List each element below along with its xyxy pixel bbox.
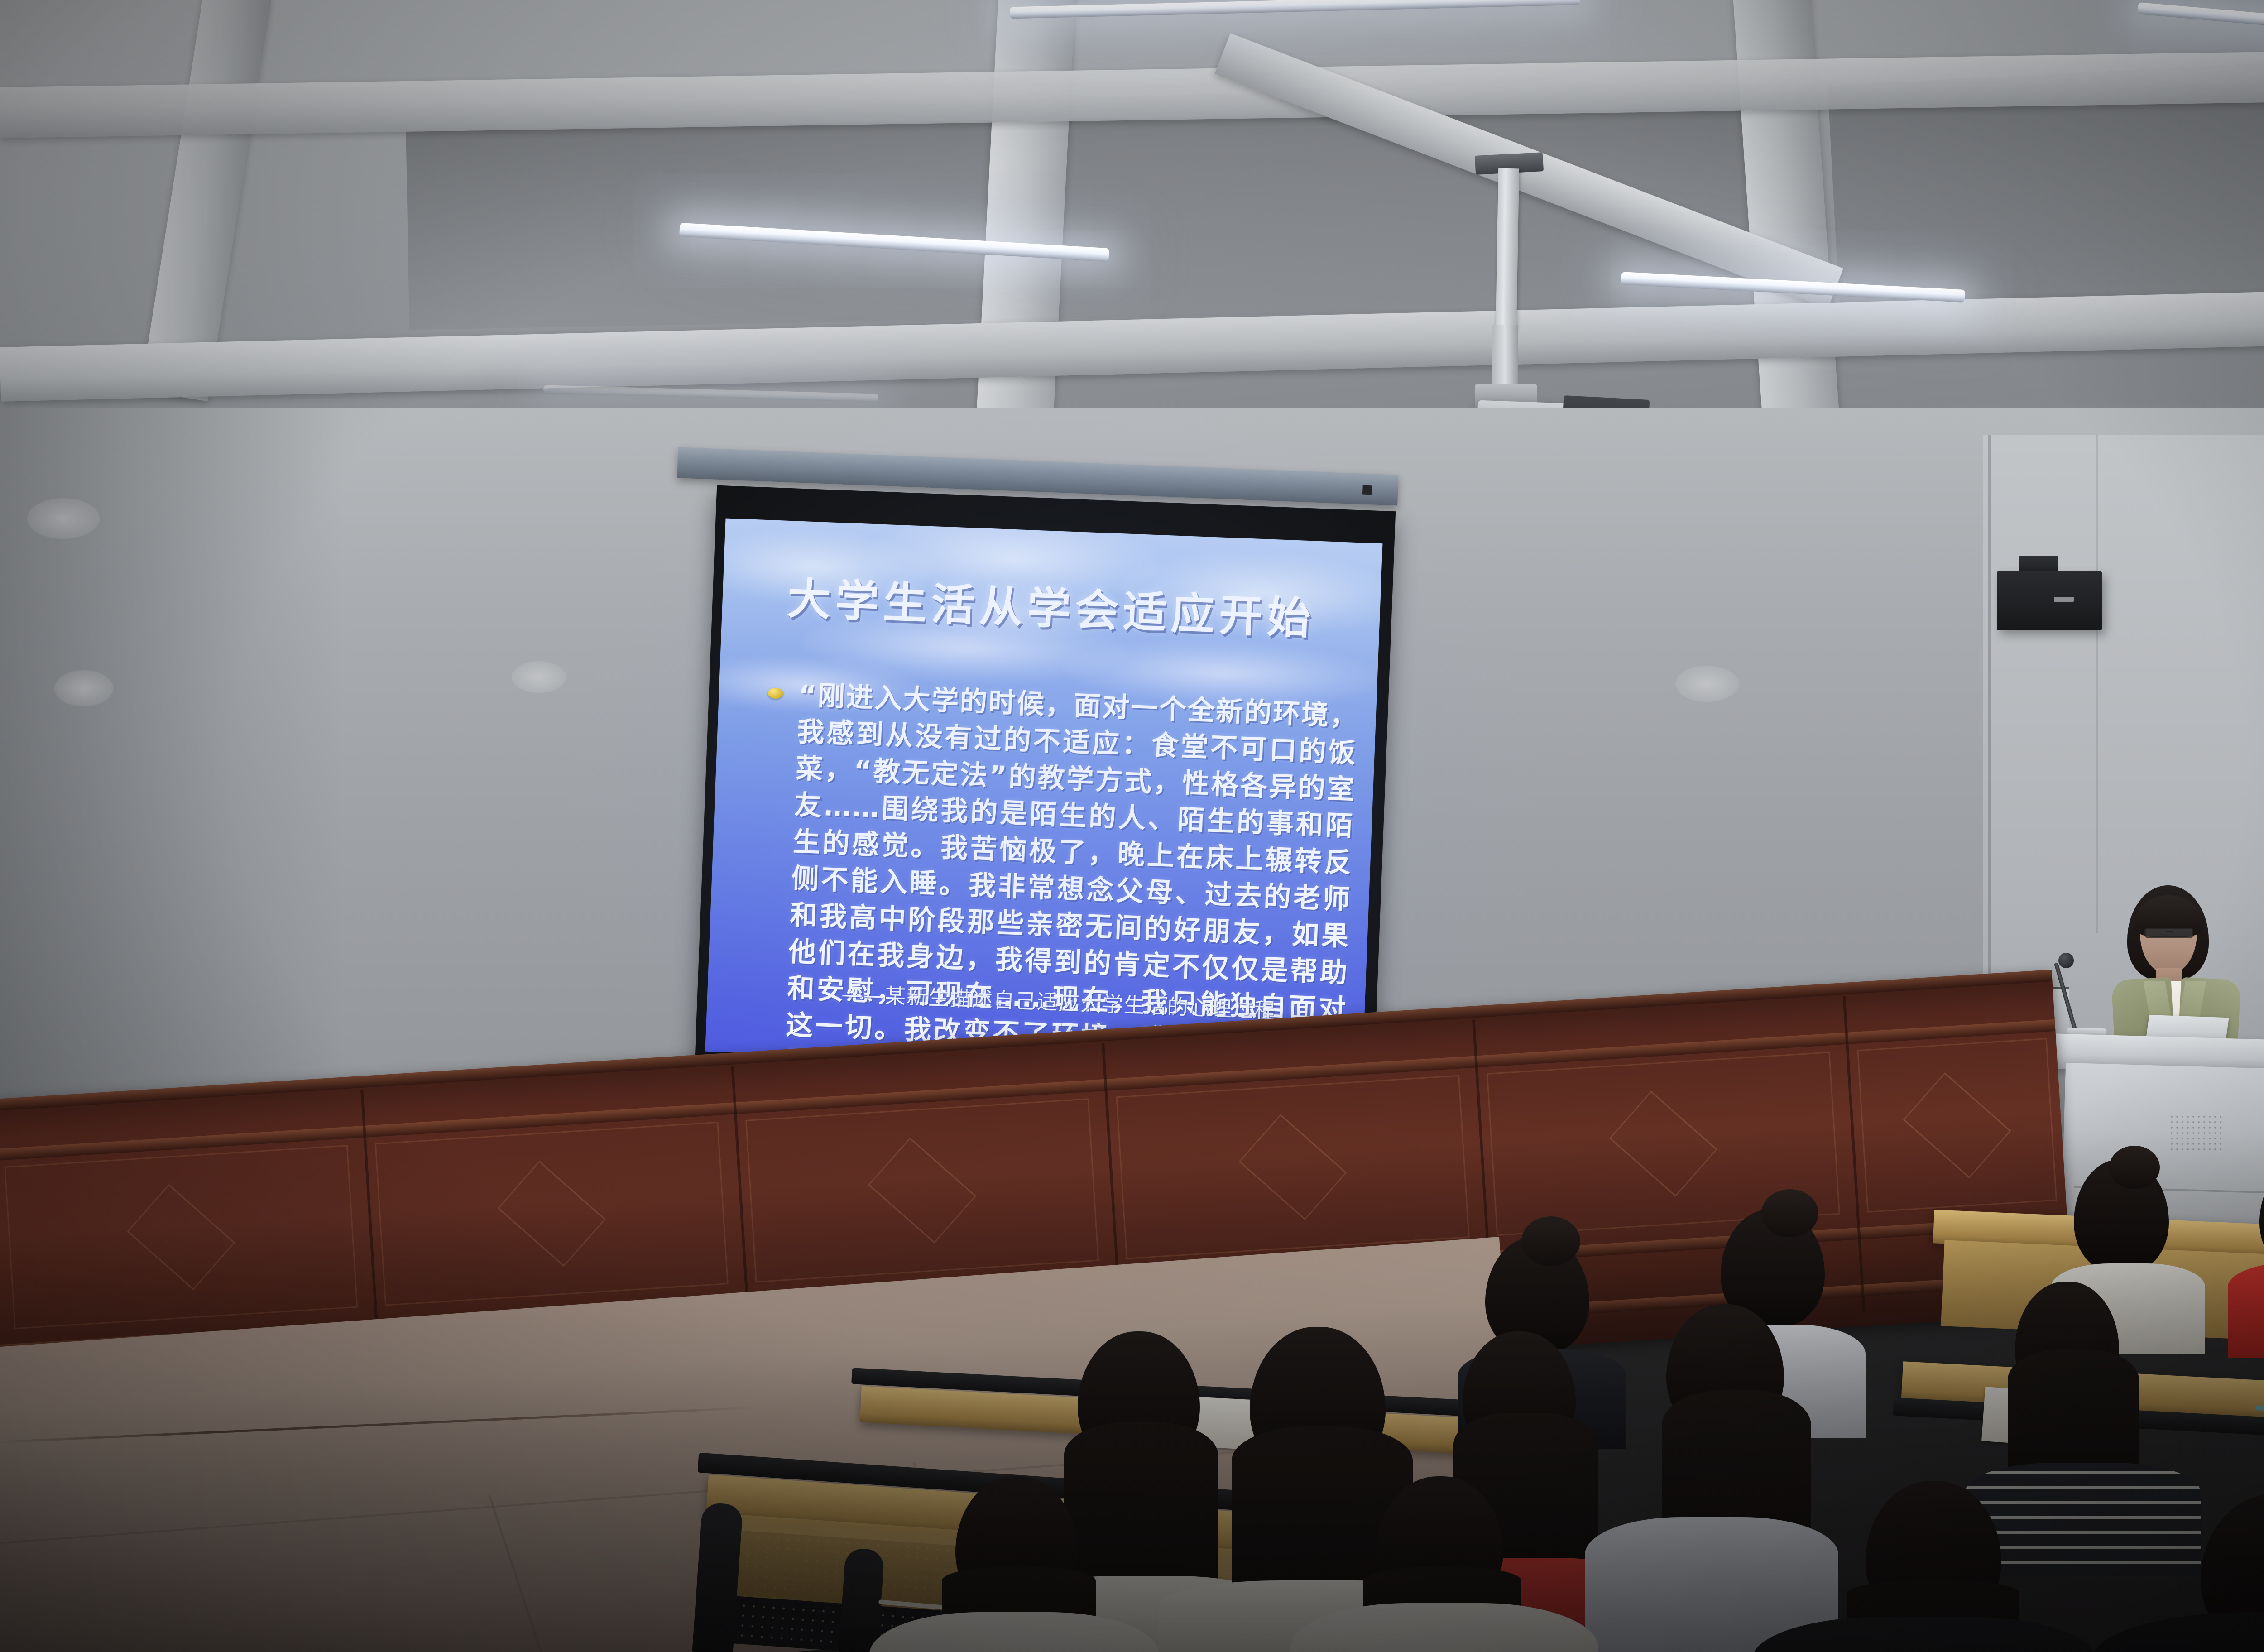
slide-canvas: 大学生活从学会适应开始 “刚进入大学的时候，面对一个全新的环境，我感到从没有过的… (705, 518, 1382, 1076)
podium-grille-left (2169, 1114, 2222, 1152)
wainscot-diamond-motif (1903, 1072, 2011, 1178)
wall-mark-4 (1675, 666, 1739, 702)
student-hair-bun (1761, 1189, 1818, 1237)
list-item (887, 1476, 1141, 1652)
wainscot-diamond-motif (127, 1184, 235, 1290)
wainscot-diamond-motif (1239, 1114, 1347, 1220)
student-body (869, 1612, 1159, 1652)
projector-mount-arm (1492, 325, 1518, 389)
ceiling-coffer-recess (406, 107, 1767, 330)
eyeglasses-icon (2144, 928, 2193, 938)
microphone-icon (2058, 953, 2074, 968)
wall-mark-1 (27, 498, 100, 539)
student-body (2092, 1612, 2264, 1652)
lecture-hall-photo: 大学生活从学会适应开始 “刚进入大学的时候，面对一个全新的环境，我感到从没有过的… (0, 0, 2264, 1652)
wainscot-diamond-motif (868, 1138, 976, 1244)
wainscot-panel (1116, 1075, 1469, 1259)
projector-drop-pole (1496, 168, 1519, 332)
list-item (2092, 1494, 2264, 1652)
speaker-logo (2054, 597, 2074, 602)
projection-screen: 大学生活从学会适应开始 “刚进入大学的时候，面对一个全新的环境，我感到从没有过的… (695, 485, 1396, 1095)
wall-seam-right (2096, 435, 2098, 933)
wainscot-diamond-motif (1609, 1091, 1717, 1197)
chair-back-post (839, 1547, 885, 1652)
list-item (2237, 1146, 2264, 1340)
wainscot-panel (375, 1122, 729, 1306)
wall-mark-3 (512, 661, 566, 693)
screen-housing-knob (1362, 485, 1372, 495)
wainscot-panel (1857, 1038, 2057, 1213)
student-head (2259, 1159, 2264, 1273)
bullet-point-icon (767, 687, 783, 699)
student-body (1290, 1603, 1598, 1652)
wainscot-panel (745, 1098, 1099, 1282)
student-body (2228, 1263, 2264, 1358)
floor-grout-line (488, 1495, 547, 1652)
list-item (1300, 1476, 1580, 1652)
student-body (1752, 1617, 2096, 1652)
floor-crack (0, 1407, 758, 1444)
wainscot-panel (4, 1145, 358, 1329)
list-item (1766, 1481, 2083, 1652)
student-hair-bun (1521, 1216, 1580, 1266)
speaker-icon (1997, 571, 2102, 630)
student-hair-bun (2109, 1146, 2160, 1189)
wall-mark-2 (54, 670, 113, 706)
eyeglasses-bridge (2166, 931, 2173, 932)
wainscot-diamond-motif (498, 1161, 606, 1267)
